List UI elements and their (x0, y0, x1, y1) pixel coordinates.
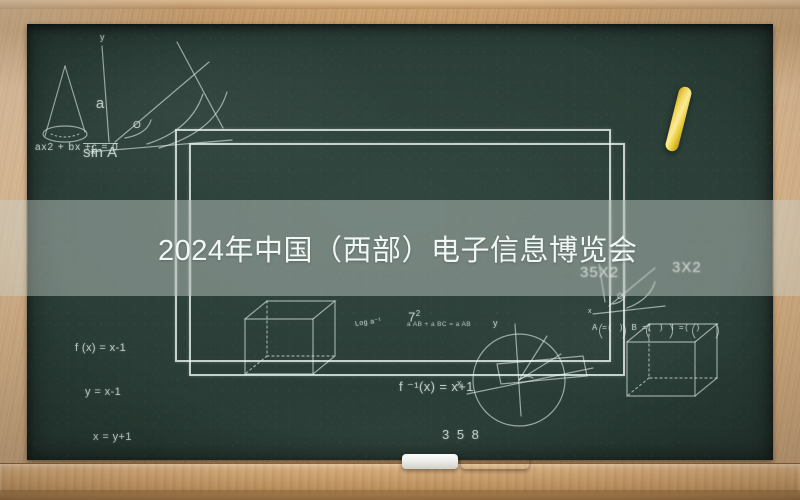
quadratic-equation-text: ax2 + bx +c = 0 (35, 142, 119, 153)
cone-drawing (43, 66, 87, 142)
fraction-a-over-sinA-bottom-left: a sin A (49, 444, 75, 460)
angle-label-o-left: O (133, 120, 141, 131)
ledge-lip (0, 490, 800, 500)
axis-label-x-circle: x (457, 378, 462, 388)
chalkboard-banner-image: a sin A ax2 + bx +c = 0 y x O f (x) = x-… (0, 0, 800, 500)
fraction-numerator: a (83, 96, 118, 112)
eight-squared: 82 (135, 452, 169, 460)
yellow-chalk-icon (461, 454, 529, 469)
chalk-ledge (0, 463, 800, 500)
function-equations-block: f (x) = x-1 y = x-1 x = y+1 (75, 311, 132, 460)
fx-line-1: f (x) = x-1 (75, 341, 132, 356)
white-chalk-icon (402, 454, 458, 469)
fraction-a-over-sinA-center: a sin A (252, 444, 278, 460)
page-title: 2024年中国（西部）电子信息博览会 (158, 200, 638, 296)
cube-drawing-right (627, 324, 717, 396)
axis-label-x-left: x (91, 146, 96, 156)
fx-line-3: x = y+1 (75, 430, 132, 445)
axis-label-y-left: y (100, 32, 105, 42)
fraction-a-over-sinA-left: a sin A (83, 64, 118, 192)
inverse-function-text: f ⁻¹(x) = x+1 (399, 379, 474, 395)
yellow-chalk-stick-icon (664, 85, 693, 152)
frame-top-highlight (0, 0, 800, 9)
arithmetic-block: 3 5 8 2 7 9 6 3 7 (442, 394, 481, 460)
arith-row-1: 3 5 8 (442, 427, 481, 443)
fx-line-2: y = x-1 (75, 385, 132, 400)
